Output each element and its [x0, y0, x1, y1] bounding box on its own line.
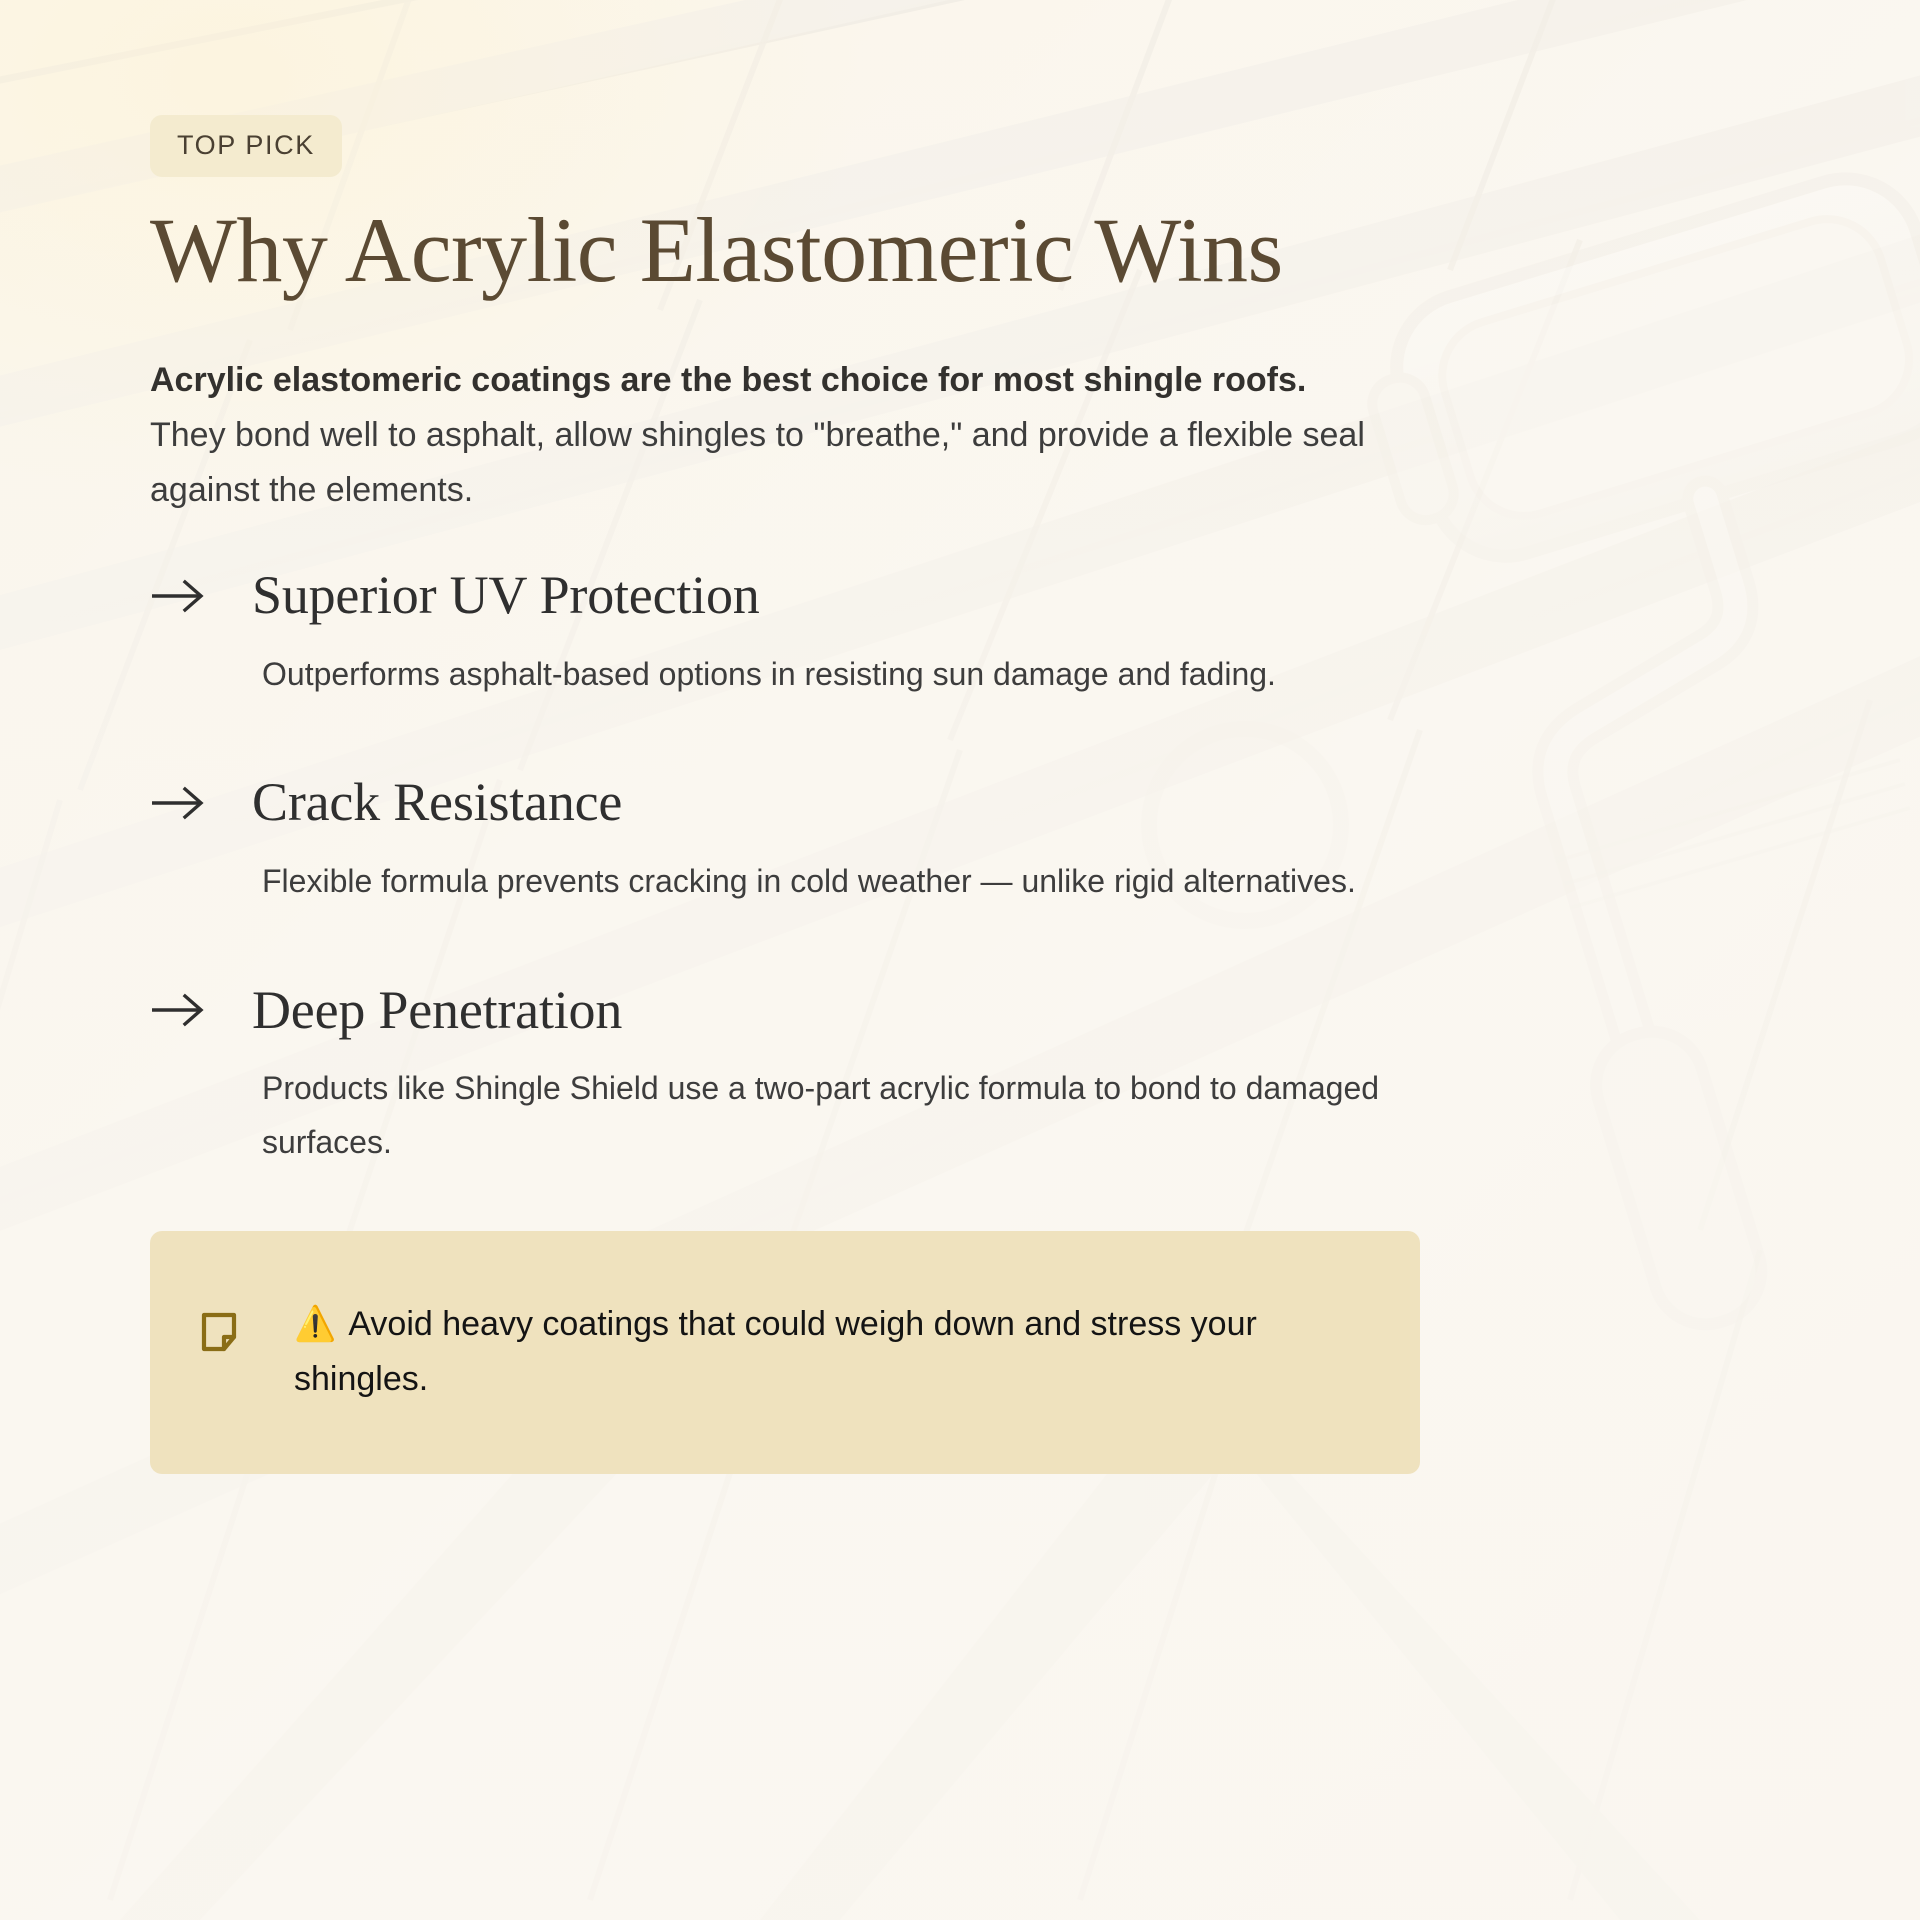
feature-description: Outperforms asphalt-based options in res…: [262, 648, 1442, 702]
callout-text-wrap: ⚠️Avoid heavy coatings that could weigh …: [294, 1297, 1354, 1407]
feature-list: Superior UV Protection Outperforms aspha…: [150, 566, 1770, 1169]
feature-header: Deep Penetration: [150, 981, 1770, 1040]
arrow-right-icon: [150, 991, 208, 1029]
arrow-right-icon: [150, 577, 208, 615]
feature-header: Crack Resistance: [150, 773, 1770, 832]
feature-title: Crack Resistance: [252, 773, 622, 832]
feature-title: Deep Penetration: [252, 981, 622, 1040]
card-content: TOP PICK Why Acrylic Elastomeric Wins Ac…: [0, 0, 1920, 1474]
feature-header: Superior UV Protection: [150, 566, 1770, 625]
feature-item: Deep Penetration Products like Shingle S…: [150, 981, 1770, 1170]
arrow-right-icon: [150, 784, 208, 822]
intro-paragraph: Acrylic elastomeric coatings are the bes…: [150, 353, 1400, 518]
feature-title: Superior UV Protection: [252, 566, 760, 625]
warning-callout: ⚠️Avoid heavy coatings that could weigh …: [150, 1231, 1420, 1473]
intro-lead: Acrylic elastomeric coatings are the bes…: [150, 353, 1400, 408]
note-icon: [198, 1311, 240, 1353]
top-pick-badge: TOP PICK: [150, 115, 342, 177]
intro-rest: They bond well to asphalt, allow shingle…: [150, 408, 1400, 518]
callout-message: Avoid heavy coatings that could weigh do…: [294, 1305, 1257, 1398]
feature-item: Crack Resistance Flexible formula preven…: [150, 773, 1770, 908]
feature-description: Flexible formula prevents cracking in co…: [262, 855, 1442, 909]
feature-description: Products like Shingle Shield use a two-p…: [262, 1062, 1442, 1170]
feature-item: Superior UV Protection Outperforms aspha…: [150, 566, 1770, 701]
page-title: Why Acrylic Elastomeric Wins: [150, 204, 1770, 296]
warning-sign-icon: ⚠️: [294, 1305, 336, 1343]
